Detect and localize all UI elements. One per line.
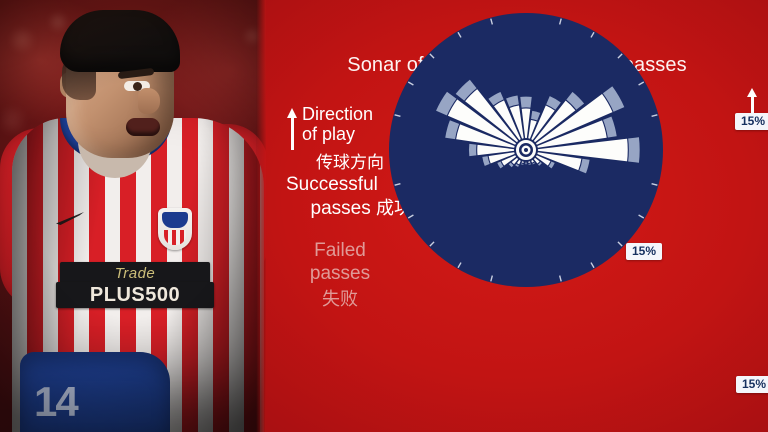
axis-label-left: 15%	[626, 243, 662, 260]
legend-direction-line2: of play	[302, 124, 373, 144]
sonar-center-hub	[515, 139, 537, 161]
axis-label-bottom: 15%	[736, 376, 768, 393]
legend-failed-line2: passes	[286, 262, 394, 285]
legend-failed-chinese: 失败	[286, 285, 394, 311]
legend-failed-line1: Failed	[286, 239, 394, 262]
photo-right-edge	[256, 0, 266, 432]
up-arrow-icon	[286, 108, 299, 152]
legend-direction-text: Direction of play	[299, 104, 373, 144]
axis-label-top: 15%	[735, 113, 768, 130]
direction-of-play-arrow-icon	[747, 88, 758, 114]
player-photo: Trade PLUS500 14	[0, 0, 266, 432]
graphic-panel: Rodri Sonar of successful and failed pas…	[266, 0, 768, 432]
photo-vignette	[0, 0, 266, 432]
legend-successful-line2: passes	[311, 198, 371, 219]
legend-direction-line1: Direction	[302, 104, 373, 124]
sky-sports-graphic: Trade PLUS500 14 Rodri Sonar of successf…	[0, 0, 768, 432]
